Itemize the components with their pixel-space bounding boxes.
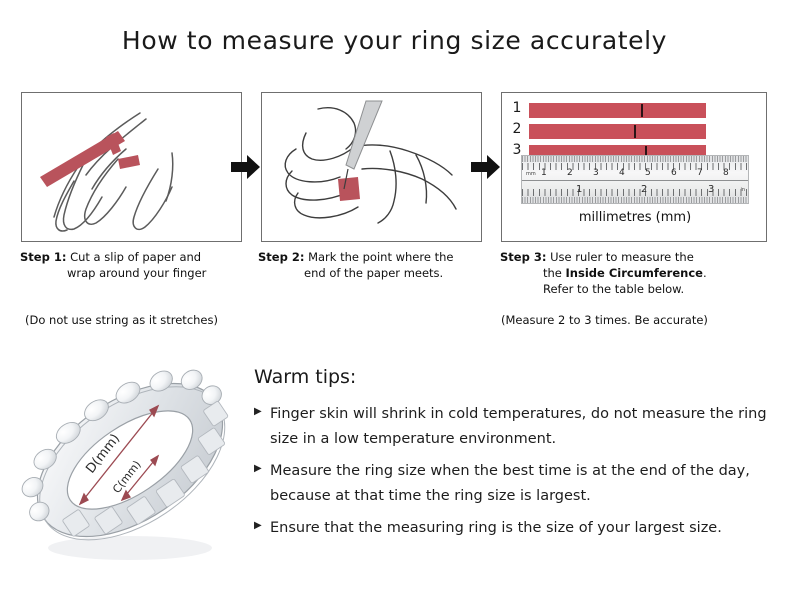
measure-strip-bar-1 [529, 103, 706, 118]
step-2-caption: Step 2: Mark the point where the end of … [258, 249, 490, 281]
page-title: How to measure your ring size accurately [0, 26, 789, 55]
step-3-line2: the Inside Circumference. [500, 265, 770, 281]
ruler-divider [522, 180, 748, 181]
eternity-band-ring-diagram: D(mm) C(mm) [18, 352, 250, 572]
measure-strip-mark-2 [634, 125, 636, 138]
step-panel-2 [261, 92, 482, 242]
measure-strip-mark-1 [641, 104, 643, 117]
triangle-right-icon-1: ▶ [254, 402, 270, 417]
step-2-line2: end of the paper meets. [258, 265, 490, 281]
hand-with-paper-strip-icon [22, 93, 241, 241]
step-panel-3: 1 2 3 mm in 1 2 3 [501, 92, 767, 242]
measure-strip-index-2: 2 [510, 121, 524, 137]
step-3-caption: Step 3: Use ruler to measure the the Ins… [500, 249, 770, 297]
triangle-right-icon-2: ▶ [254, 459, 270, 474]
step-3-line1: Use ruler to measure the [550, 250, 694, 264]
ruler-unit-caption: millimetres (mm) [521, 210, 749, 225]
ruler-cm-label-1: 1 [541, 168, 547, 178]
ruler-cm-label-2: 2 [567, 168, 573, 178]
ruler-inch-label-1: 1 [576, 184, 582, 195]
ruler-inch-label-2: 2 [641, 184, 647, 195]
step-3-note: (Measure 2 to 3 times. Be accurate) [501, 313, 708, 327]
ruler-cm-label-5: 5 [645, 168, 651, 178]
warm-tip-text-3: Ensure that the measuring ring is the si… [270, 516, 774, 541]
ruler-unit-mm-label: mm [526, 171, 536, 177]
ruler-edge-top [522, 156, 748, 162]
warm-tips-section: Warm tips: ▶ Finger skin will shrink in … [254, 366, 774, 548]
steps-row: 1 2 3 mm in 1 2 3 [0, 92, 789, 247]
step-3-line2-bold: Inside Circumference [566, 266, 703, 280]
step-2-line1: Mark the point where the [308, 250, 453, 264]
step-3-label: Step 3: [500, 250, 546, 264]
triangle-right-icon-3: ▶ [254, 516, 270, 531]
warm-tip-text-2: Measure the ring size when the best time… [270, 459, 774, 509]
ruler: mm in 1 2 3 4 5 6 7 8 1 2 3 [521, 155, 749, 204]
step-2-label: Step 2: [258, 250, 304, 264]
ruler-cm-label-6: 6 [671, 168, 677, 178]
step-1-caption: Step 1: Cut a slip of paper and wrap aro… [20, 249, 250, 281]
step-3-line3: Refer to the table below. [500, 281, 770, 297]
hand-marking-pen-icon [262, 93, 481, 241]
warm-tip-item-2: ▶ Measure the ring size when the best ti… [254, 459, 774, 509]
ruler-cm-label-8: 8 [723, 168, 729, 178]
arrow-right-icon-2 [471, 154, 501, 180]
step-3-line2-suffix: . [703, 266, 707, 280]
warm-tip-text-1: Finger skin will shrink in cold temperat… [270, 402, 774, 452]
ruler-cm-label-4: 4 [619, 168, 625, 178]
measure-strip-bar-2 [529, 124, 706, 139]
ruler-cm-label-7: 7 [697, 168, 703, 178]
ruler-inch-label-3: 3 [708, 184, 714, 195]
arrow-right-icon-1 [231, 154, 261, 180]
step-1-label: Step 1: [20, 250, 66, 264]
ruler-cm-label-3: 3 [593, 168, 599, 178]
warm-tip-item-3: ▶ Ensure that the measuring ring is the … [254, 516, 774, 541]
step-1-note: (Do not use string as it stretches) [25, 313, 218, 327]
step-1-line1: Cut a slip of paper and [70, 250, 201, 264]
warm-tips-heading: Warm tips: [254, 366, 774, 388]
measure-strip-index-1: 1 [510, 100, 524, 116]
ruler-unit-inch-label: in [740, 187, 745, 193]
step-panel-1 [21, 92, 242, 242]
step-3-line2-prefix: the [543, 266, 566, 280]
ruler-edge-bottom [522, 197, 748, 203]
step-1-line2: wrap around your finger [20, 265, 250, 281]
warm-tip-item-1: ▶ Finger skin will shrink in cold temper… [254, 402, 774, 452]
ruler-ticks-cm [522, 163, 748, 170]
